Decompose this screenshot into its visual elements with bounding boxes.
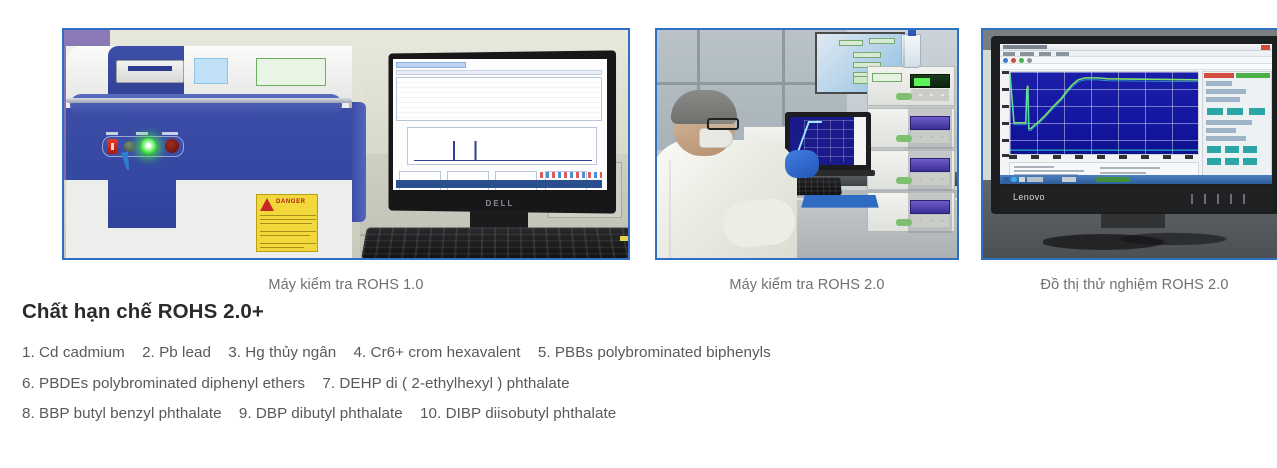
- blue-sample-tray: [801, 195, 878, 208]
- hplc-module-sampler: [867, 192, 955, 232]
- section-heading: Chất hạn chế ROHS 2.0+: [22, 300, 1262, 324]
- chromatogram-plot: [1009, 71, 1199, 155]
- blue-glove: [785, 150, 819, 178]
- secondary-toolbar[interactable]: [1000, 64, 1272, 70]
- analyser-side-panel: [352, 102, 366, 222]
- toolbar[interactable]: [1000, 57, 1272, 64]
- substance-item: 8. BBP butyl benzyl phthalate: [22, 405, 222, 422]
- lab-technician: [655, 88, 801, 260]
- photo-rohs-2-graph: Lenovo: [981, 28, 1277, 260]
- yellow-floor-marker-2: [620, 236, 630, 241]
- solvent-bottle: [901, 34, 921, 68]
- monitor-brand-label: DELL: [386, 199, 614, 208]
- hplc-module-detector: [867, 66, 955, 106]
- monitor-stand: [1101, 214, 1165, 228]
- figure-rohs-1-machine: DANGER: [62, 28, 630, 293]
- substance-line-2: 6. PBDEs polybrominated diphenyl ethers …: [22, 375, 1262, 392]
- lenovo-monitor: Lenovo: [991, 36, 1277, 214]
- hplc-module-pump: [867, 108, 955, 148]
- photo-rohs-2-machine: [655, 28, 959, 260]
- window-titlebar: [1000, 44, 1272, 51]
- stop-button[interactable]: [165, 139, 179, 153]
- results-table: [396, 77, 602, 121]
- substance-item: 2. Pb lead: [142, 344, 211, 361]
- figure-rohs-2-machine: Máy kiểm tra ROHS 2.0: [655, 28, 959, 293]
- chromatogram-curve: [1010, 72, 1198, 154]
- device-nameplate: [116, 60, 184, 83]
- substance-item: 3. Hg thủy ngân: [228, 344, 336, 361]
- substance-item: 9. DBP dibutyl phthalate: [239, 405, 403, 422]
- eyeglasses: [707, 118, 739, 130]
- spectrum-chart: [407, 127, 597, 165]
- substance-line-1: 1. Cd cadmium 2. Pb lead 3. Hg thủy ngân…: [22, 344, 1262, 361]
- figure-caption: Máy kiểm tra ROHS 2.0: [655, 277, 959, 293]
- photo-rohs-1-machine: DANGER: [62, 28, 630, 260]
- lid-handle: [66, 98, 352, 103]
- monitor-screen: [1000, 44, 1272, 184]
- blue-sticker: [194, 58, 228, 84]
- substance-item: 5. PBBs polybrominated biphenyls: [538, 344, 771, 361]
- monitor-brand-label: Lenovo: [1013, 192, 1045, 202]
- substance-item: 1. Cd cadmium: [22, 344, 125, 361]
- cables: [1043, 224, 1243, 254]
- image-gallery: DANGER: [0, 0, 1277, 285]
- y-axis: [1002, 71, 1009, 157]
- monitor-screen: [393, 59, 607, 190]
- green-sticker: [256, 58, 326, 86]
- taskbar[interactable]: [1000, 175, 1272, 184]
- hplc-module-oven: [867, 150, 955, 190]
- substance-item: 10. DIBP diisobutyl phthalate: [420, 405, 616, 422]
- controls-side-panel[interactable]: [1202, 71, 1272, 179]
- power-rocker-switch[interactable]: [107, 139, 118, 154]
- restricted-substances-section: Chất hạn chế ROHS 2.0+ 1. Cd cadmium 2. …: [22, 300, 1262, 436]
- status-lamp-green: [140, 138, 157, 155]
- monitor-osd-buttons[interactable]: [1191, 194, 1255, 204]
- substance-item: 4. Cr6+ crom hexavalent: [354, 344, 521, 361]
- key-switch[interactable]: [124, 141, 135, 152]
- xrf-analyser: DANGER: [66, 46, 352, 260]
- substance-item: 6. PBDEs polybrominated diphenyl ethers: [22, 375, 305, 392]
- keyboard: [361, 228, 630, 260]
- dell-monitor: DELL: [386, 52, 614, 212]
- radiation-icon: [260, 198, 274, 211]
- radiation-warning-label: DANGER: [256, 194, 318, 252]
- figure-caption: Máy kiểm tra ROHS 1.0: [62, 277, 630, 293]
- danger-label-text: DANGER: [276, 199, 306, 205]
- substance-line-3: 8. BBP butyl benzyl phthalate 9. DBP dib…: [22, 405, 1262, 422]
- close-icon[interactable]: [1261, 45, 1270, 50]
- hplc-system: [867, 66, 955, 234]
- taskbar: [396, 180, 602, 188]
- face-mask: [699, 128, 733, 148]
- figure-rohs-2-graph: Lenovo Đồ thị thử nghiệm ROHS 2.0: [981, 28, 1277, 293]
- figure-caption: Đồ thị thử nghiệm ROHS 2.0: [981, 277, 1277, 293]
- yellow-floor-marker: [360, 258, 386, 260]
- x-axis: [1009, 155, 1199, 161]
- substance-item: 7. DEHP di ( 2-ethylhexyl ) phthalate: [322, 375, 569, 392]
